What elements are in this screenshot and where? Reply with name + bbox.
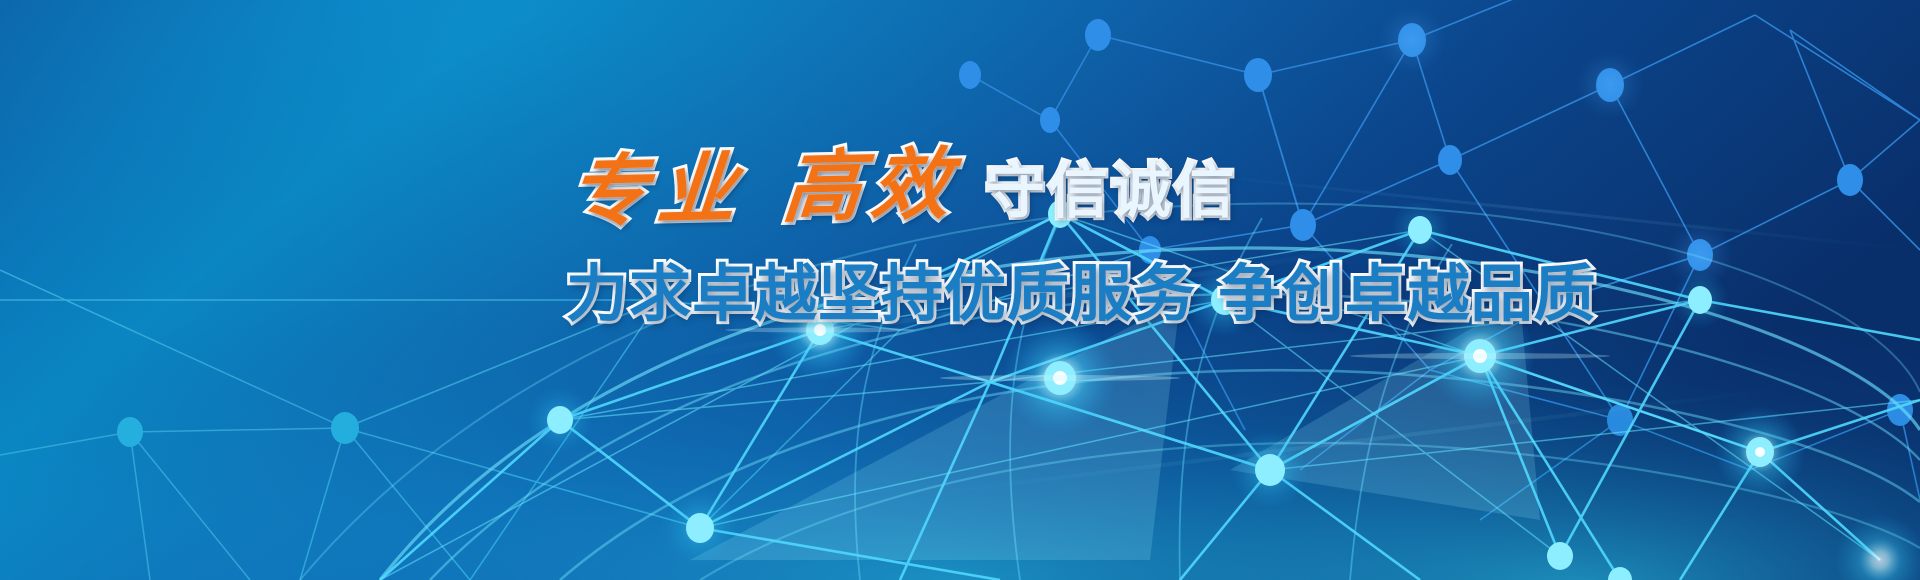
network-globe-graphic: [0, 0, 1920, 580]
hero-banner: 专业 高效 守信诚信 力求卓越坚持优质服务 争创卓越品质 力求卓越坚持优质服务 …: [0, 0, 1920, 580]
